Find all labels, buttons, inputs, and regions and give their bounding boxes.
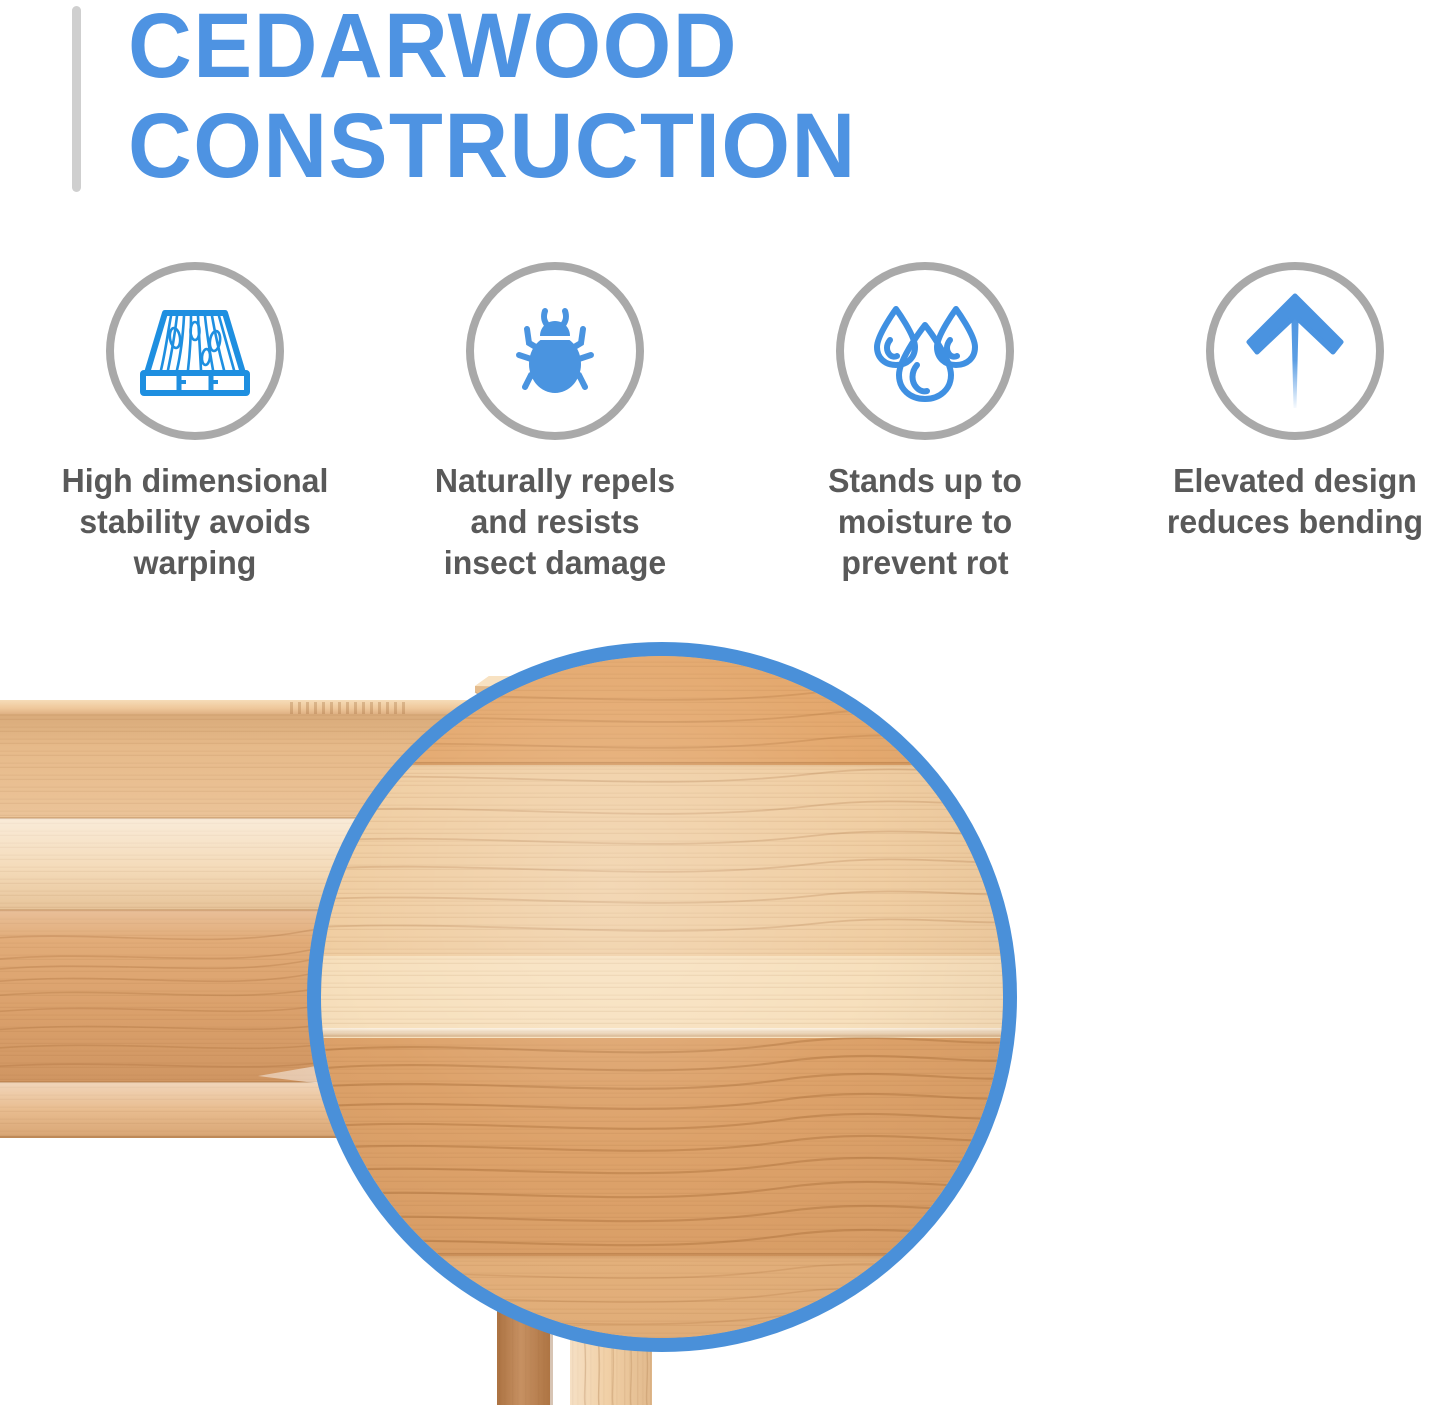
feature-caption: Naturally repels and resists insect dama… bbox=[376, 460, 735, 583]
magnifier-contents bbox=[321, 656, 1003, 1338]
water-droplets-icon bbox=[836, 262, 1014, 440]
title-accent-bar bbox=[72, 6, 81, 192]
wood-grain-magnifier bbox=[307, 642, 1017, 1352]
up-arrow-icon bbox=[1206, 262, 1384, 440]
wood-planks-icon bbox=[106, 262, 284, 440]
infographic-canvas: CEDARWOOD CONSTRUCTION bbox=[0, 0, 1445, 1405]
title-line-1: CEDARWOOD bbox=[128, 0, 1261, 96]
feature-moisture-resistant: Stands up to moisture to prevent rot bbox=[740, 262, 1110, 583]
feature-caption: High dimensional stability avoids warpin… bbox=[16, 460, 375, 583]
feature-icon-circle bbox=[836, 262, 1014, 440]
header: CEDARWOOD CONSTRUCTION bbox=[0, 0, 1445, 230]
feature-row: High dimensional stability avoids warpin… bbox=[0, 262, 1445, 612]
title-line-2: CONSTRUCTION bbox=[128, 96, 1261, 196]
feature-caption: Elevated design reduces bending bbox=[1116, 460, 1445, 542]
feature-repels-insects: Naturally repels and resists insect dama… bbox=[370, 262, 740, 583]
feature-icon-circle bbox=[466, 262, 644, 440]
page-title: CEDARWOOD CONSTRUCTION bbox=[128, 0, 1308, 196]
feature-high-dimensional-stability: High dimensional stability avoids warpin… bbox=[10, 262, 380, 583]
bug-icon bbox=[466, 262, 644, 440]
feature-icon-circle bbox=[106, 262, 284, 440]
product-photo bbox=[0, 636, 1445, 1405]
feature-caption: Stands up to moisture to prevent rot bbox=[746, 460, 1105, 583]
feature-icon-circle bbox=[1206, 262, 1384, 440]
feature-elevated-design: Elevated design reduces bending bbox=[1110, 262, 1445, 542]
mag-lens-shading bbox=[321, 656, 1003, 1338]
